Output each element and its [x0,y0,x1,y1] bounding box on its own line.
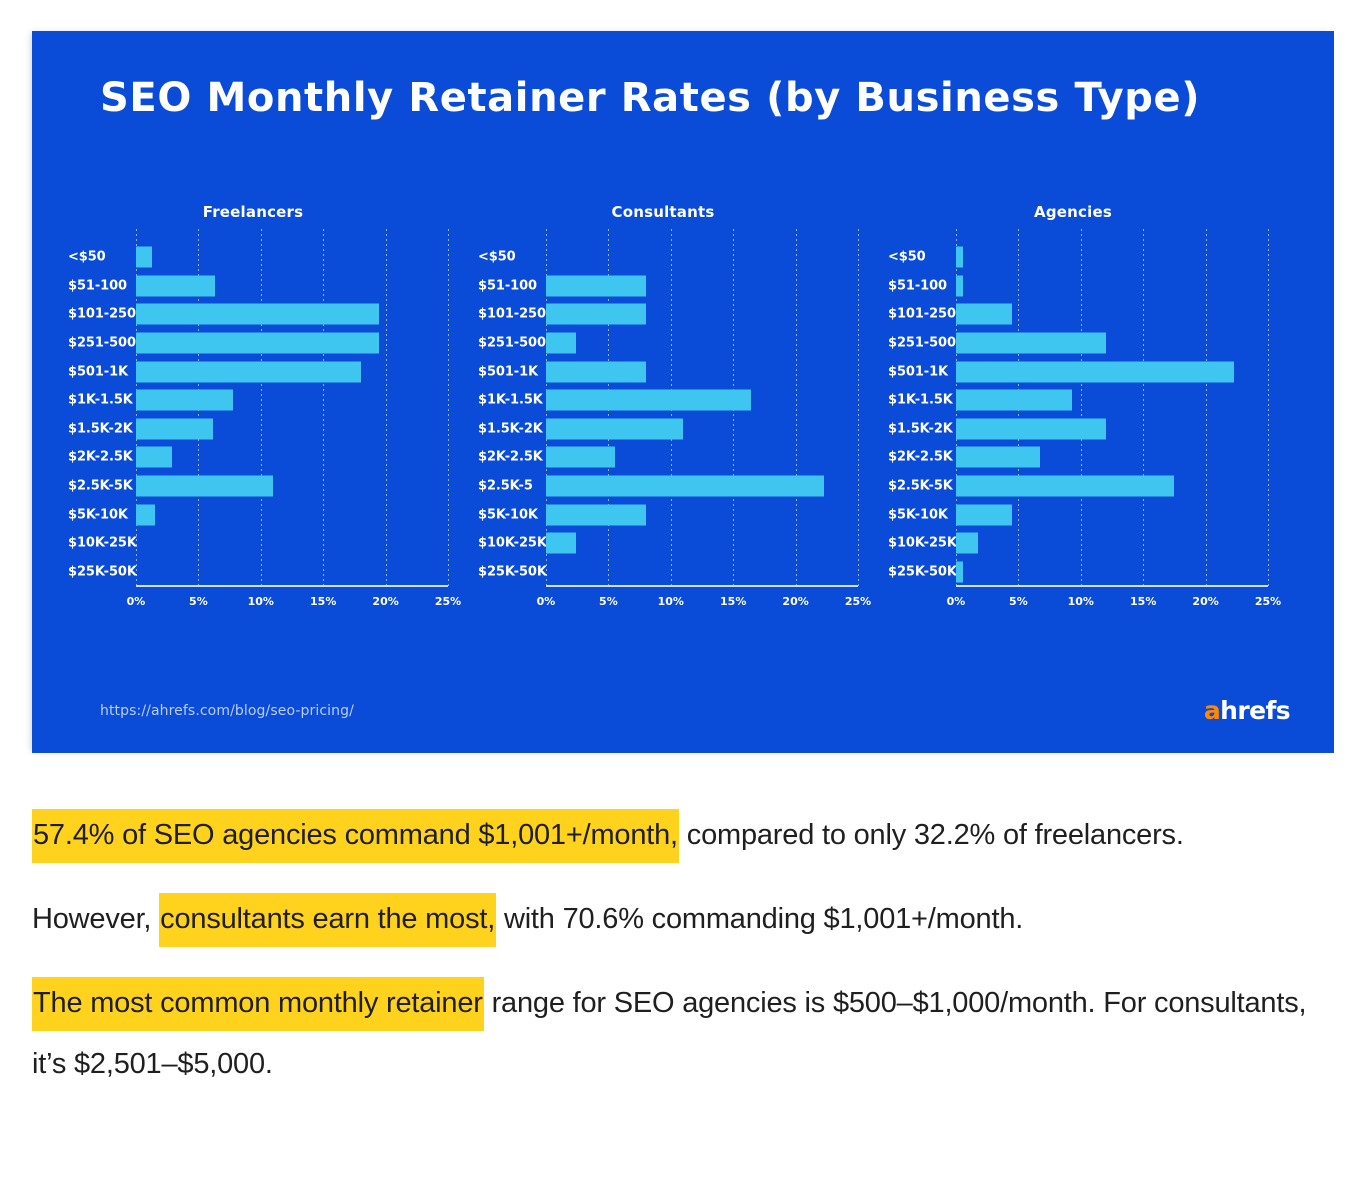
chart-row: $1.5K-2K [478,415,858,444]
chart-consultants: Consultants<$50$51-100$101-250$251-500$5… [478,161,888,651]
bar-track [136,476,448,497]
bar-track [136,504,448,525]
paragraph: The most common monthly retainer range f… [32,973,1332,1095]
bar-track [956,561,1268,582]
category-label: $1K-1.5K [478,393,540,408]
category-label: $501-1K [888,364,950,379]
gridline [448,229,449,587]
bar-rows: <$50$51-100$101-250$251-500$501-1K$1K-1.… [888,243,1268,588]
tick-label: 20% [372,595,398,608]
gridline [858,229,859,587]
chart-row: $251-500 [888,329,1268,358]
tick-label: 15% [720,595,746,608]
chart-row: $2.5K-5 [478,472,858,501]
category-label: $51-100 [478,278,540,293]
logo-wordmark: hrefs [1220,696,1290,725]
bar-track [136,533,448,554]
category-label: $1.5K-2K [888,421,950,436]
chart-title: Agencies [888,203,1258,221]
bar [136,275,215,296]
highlighted-text: The most common monthly retainer [32,977,484,1031]
chart-row: $2.5K-5K [888,472,1268,501]
bar-track [546,247,858,268]
paragraph: However, consultants earn the most, with… [32,889,1332,950]
bar-track [546,561,858,582]
chart-row: $1.5K-2K [888,415,1268,444]
category-label: $2.5K-5K [888,479,950,494]
bar-track [136,390,448,411]
category-label: $25K-50K [478,564,540,579]
tick-label: 25% [435,595,461,608]
tick-label: 15% [310,595,336,608]
category-label: $251-500 [68,336,130,351]
bar [546,390,751,411]
category-label: $101-250 [478,307,540,322]
x-axis-ticks: 0%5%10%15%20%25% [956,591,1268,613]
x-axis-ticks: 0%5%10%15%20%25% [136,591,448,613]
bar [546,447,615,468]
tick-label: 25% [845,595,871,608]
chart-row: $1K-1.5K [888,386,1268,415]
bar-track [546,504,858,525]
chart-row: $251-500 [478,329,858,358]
paragraph-text: compared to only 32.2% of freelancers. [679,819,1184,851]
chart-row: $2.5K-5K [68,472,448,501]
bar [546,361,646,382]
category-label: $501-1K [478,364,540,379]
chart-row: $501-1K [478,357,858,386]
bar-track [136,361,448,382]
category-label: $251-500 [478,336,540,351]
bar [136,390,233,411]
chart-title: Consultants [478,203,848,221]
bar-track [956,447,1268,468]
chart-row: $2K-2.5K [478,443,858,472]
chart-row: <$50 [478,243,858,272]
category-label: $10K-25K [478,536,540,551]
bar [136,476,273,497]
category-label: <$50 [68,250,130,265]
category-label: $2K-2.5K [888,450,950,465]
tick-label: 5% [599,595,618,608]
chart-title: Freelancers [68,203,438,221]
infographic-card: SEO Monthly Retainer Rates (by Business … [32,31,1334,753]
charts-row: Freelancers<$50$51-100$101-250$251-500$5… [68,161,1298,651]
bar-track [546,476,858,497]
category-label: $5K-10K [888,507,950,522]
bar [136,361,361,382]
bar-track [956,533,1268,554]
category-label: $101-250 [68,307,130,322]
tick-label: 5% [1009,595,1028,608]
page-title: SEO Monthly Retainer Rates (by Business … [100,75,1200,121]
tick-label: 0% [127,595,146,608]
bar-track [956,504,1268,525]
category-label: $101-250 [888,307,950,322]
bar-track [546,304,858,325]
bar [136,304,379,325]
bar-rows: <$50$51-100$101-250$251-500$501-1K$1K-1.… [478,243,858,588]
paragraph-text: with 70.6% commanding $1,001+/month. [496,903,1023,935]
chart-row: $501-1K [888,357,1268,386]
chart-row: $5K-10K [68,500,448,529]
bar-track [136,275,448,296]
category-label: $10K-25K [68,536,130,551]
category-label: $10K-25K [888,536,950,551]
bar [136,247,152,268]
bar [136,418,213,439]
category-label: $5K-10K [478,507,540,522]
highlighted-text: 57.4% of SEO agencies command $1,001+/mo… [32,809,679,863]
paragraph: 57.4% of SEO agencies command $1,001+/mo… [32,805,1332,866]
bar [956,304,1012,325]
bar [956,361,1234,382]
chart-row: $1K-1.5K [478,386,858,415]
category-label: $25K-50K [68,564,130,579]
bar [546,476,824,497]
chart-row: $101-250 [68,300,448,329]
category-label: $1K-1.5K [888,393,950,408]
bar [546,275,646,296]
bar [546,533,576,554]
category-label: $1.5K-2K [478,421,540,436]
bar [136,333,379,354]
chart-row: $101-250 [478,300,858,329]
chart-row: $25K-50K [888,558,1268,587]
bar-track [546,361,858,382]
chart-row: $101-250 [888,300,1268,329]
bar [956,333,1106,354]
body-copy: 57.4% of SEO agencies command $1,001+/mo… [32,805,1332,1118]
bar-track [956,333,1268,354]
bar-track [956,247,1268,268]
plot-area: <$50$51-100$101-250$251-500$501-1K$1K-1.… [956,229,1268,613]
category-label: $1.5K-2K [68,421,130,436]
bar-track [136,561,448,582]
tick-label: 20% [1192,595,1218,608]
category-label: $1K-1.5K [68,393,130,408]
page-root: SEO Monthly Retainer Rates (by Business … [0,0,1364,1194]
logo-accent-letter: a [1204,696,1220,725]
tick-label: 15% [1130,595,1156,608]
tick-label: 0% [947,595,966,608]
source-url[interactable]: https://ahrefs.com/blog/seo-pricing/ [100,703,354,719]
chart-row: $51-100 [68,272,448,301]
bar [956,561,963,582]
bar [956,533,978,554]
bar-rows: <$50$51-100$101-250$251-500$501-1K$1K-1.… [68,243,448,588]
bar [956,504,1012,525]
bar [546,504,646,525]
x-axis-ticks: 0%5%10%15%20%25% [546,591,858,613]
category-label: $5K-10K [68,507,130,522]
chart-row: $5K-10K [888,500,1268,529]
chart-row: $501-1K [68,357,448,386]
bar-track [956,476,1268,497]
chart-row: $10K-25K [68,529,448,558]
bar [546,333,576,354]
category-label: $2K-2.5K [478,450,540,465]
chart-row: $251-500 [68,329,448,358]
category-label: <$50 [888,250,950,265]
bar-track [956,275,1268,296]
tick-label: 10% [1068,595,1094,608]
bar-track [546,390,858,411]
tick-label: 25% [1255,595,1281,608]
category-label: $2.5K-5 [478,479,540,494]
tick-label: 20% [782,595,808,608]
category-label: $251-500 [888,336,950,351]
category-label: $2K-2.5K [68,450,130,465]
plot-area: <$50$51-100$101-250$251-500$501-1K$1K-1.… [136,229,448,613]
plot-area: <$50$51-100$101-250$251-500$501-1K$1K-1.… [546,229,858,613]
bar-track [956,390,1268,411]
bar [956,247,963,268]
category-label: $25K-50K [888,564,950,579]
chart-freelancers: Freelancers<$50$51-100$101-250$251-500$5… [68,161,478,651]
category-label: $51-100 [68,278,130,293]
chart-row: <$50 [888,243,1268,272]
bar-track [546,275,858,296]
tick-label: 10% [658,595,684,608]
chart-row: $25K-50K [478,558,858,587]
chart-row: $51-100 [478,272,858,301]
tick-label: 10% [248,595,274,608]
chart-row: $2K-2.5K [68,443,448,472]
chart-agencies: Agencies<$50$51-100$101-250$251-500$501-… [888,161,1298,651]
bar-track [136,418,448,439]
bar [956,476,1174,497]
chart-row: <$50 [68,243,448,272]
bar [546,304,646,325]
category-label: $2.5K-5K [68,479,130,494]
bar [136,447,172,468]
chart-row: $1.5K-2K [68,415,448,444]
paragraph-text: However, [32,903,159,935]
chart-row: $10K-25K [478,529,858,558]
bar [956,275,963,296]
chart-row: $2K-2.5K [888,443,1268,472]
category-label: $51-100 [888,278,950,293]
bar-track [546,418,858,439]
bar-track [136,247,448,268]
bar-track [956,361,1268,382]
bar-track [546,333,858,354]
highlighted-text: consultants earn the most, [159,893,496,947]
bar [136,504,155,525]
chart-row: $5K-10K [478,500,858,529]
bar-track [136,333,448,354]
bar-track [136,447,448,468]
bar-track [136,304,448,325]
bar [546,418,683,439]
tick-label: 5% [189,595,208,608]
bar-track [546,447,858,468]
bar-track [956,418,1268,439]
bar-track [546,533,858,554]
gridline [1268,229,1269,587]
chart-row: $10K-25K [888,529,1268,558]
chart-row: $25K-50K [68,558,448,587]
category-label: <$50 [478,250,540,265]
bar [956,390,1072,411]
bar-track [956,304,1268,325]
bar [956,418,1106,439]
category-label: $501-1K [68,364,130,379]
chart-row: $1K-1.5K [68,386,448,415]
chart-row: $51-100 [888,272,1268,301]
ahrefs-logo: ahrefs [1204,696,1290,725]
bar [956,447,1040,468]
tick-label: 0% [537,595,556,608]
